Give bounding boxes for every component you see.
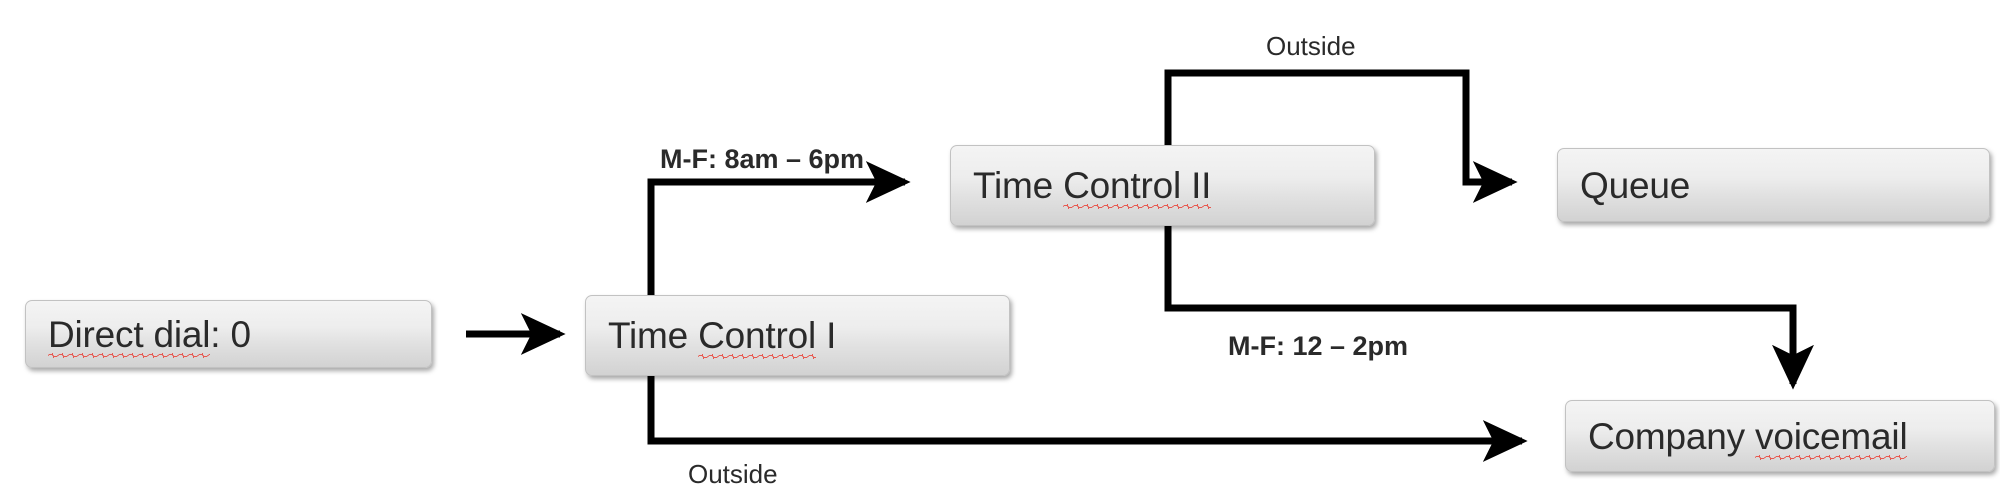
node-company-voicemail-label: Company voicemail (1566, 418, 1907, 455)
spellcheck-underline: Control (698, 317, 816, 354)
node-time-control-2-label: Time Control II (951, 167, 1211, 204)
edge-label-outside-top: Outside (1266, 33, 1356, 59)
spellcheck-underline: Direct dial (48, 316, 210, 353)
node-time-control-2[interactable]: Time Control II (950, 145, 1375, 226)
spellcheck-underline: voicemail (1755, 418, 1907, 455)
node-queue[interactable]: Queue (1557, 148, 1990, 222)
node-direct-dial-label-suffix: : 0 (210, 314, 251, 355)
node-time-control-1-label-prefix: Time (608, 315, 698, 356)
edge-label-mf-12-2pm: M-F: 12 – 2pm (1228, 333, 1408, 360)
node-company-voicemail-label-prefix: Company (1588, 416, 1755, 457)
node-time-control-2-label-prefix: Time (973, 165, 1063, 206)
node-time-control-1-label: Time Control I (586, 317, 836, 354)
connector-time-control-1-to-time-control-2 (651, 182, 905, 295)
connector-time-control-1-to-company-voicemail (651, 376, 1522, 441)
node-company-voicemail[interactable]: Company voicemail (1565, 400, 1995, 472)
node-direct-dial-label: Direct dial: 0 (26, 316, 251, 353)
edge-label-outside-bottom: Outside (688, 461, 778, 487)
spellcheck-underline: Control II (1063, 167, 1211, 204)
node-queue-label: Queue (1558, 167, 1690, 204)
node-time-control-1-label-suffix: I (816, 315, 836, 356)
node-direct-dial[interactable]: Direct dial: 0 (25, 300, 432, 368)
node-time-control-1[interactable]: Time Control I (585, 295, 1010, 376)
edge-label-mf-8am-6pm: M-F: 8am – 6pm (660, 146, 864, 173)
diagram-canvas: Direct dial: 0 Time Control I Time Contr… (0, 0, 2000, 503)
